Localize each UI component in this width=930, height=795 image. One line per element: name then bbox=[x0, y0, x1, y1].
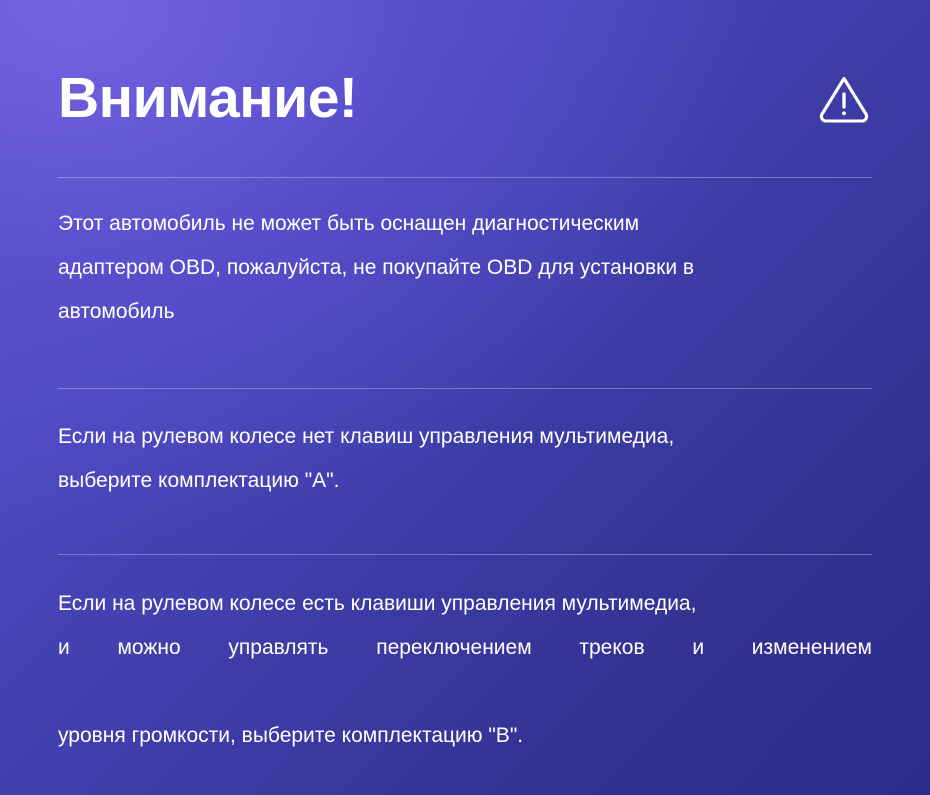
notice-paragraph-obd: Этот автомобиль не может быть оснащен ди… bbox=[58, 202, 872, 334]
warning-triangle-icon bbox=[816, 70, 872, 126]
page-title: Внимание! bbox=[58, 70, 357, 127]
notice-line: уровня громкости, выберите комплектацию … bbox=[58, 714, 872, 758]
divider-1 bbox=[58, 177, 872, 178]
notice-line: автомобиль bbox=[58, 290, 872, 334]
notice-line: Если на рулевом колесе нет клавиш управл… bbox=[58, 415, 872, 459]
notice-line: адаптером OBD, пожалуйста, не покупайте … bbox=[58, 246, 872, 290]
warning-notice-card: Внимание! Этот автомобиль не может быть … bbox=[0, 0, 930, 795]
divider-3 bbox=[58, 554, 872, 555]
notice-line: и можно управлять переключением треков и… bbox=[58, 626, 872, 714]
divider-2 bbox=[58, 388, 872, 389]
notice-line: Если на рулевом колесе есть клавиши упра… bbox=[58, 582, 872, 626]
notice-line: Этот автомобиль не может быть оснащен ди… bbox=[58, 202, 872, 246]
notice-paragraph-variant-a: Если на рулевом колесе нет клавиш управл… bbox=[58, 415, 872, 503]
notice-line: выберите комплектацию "A". bbox=[58, 459, 872, 503]
notice-paragraph-variant-b: Если на рулевом колесе есть клавиши упра… bbox=[58, 582, 872, 758]
notice-content: Внимание! Этот автомобиль не может быть … bbox=[58, 0, 872, 795]
notice-header: Внимание! bbox=[58, 52, 872, 144]
